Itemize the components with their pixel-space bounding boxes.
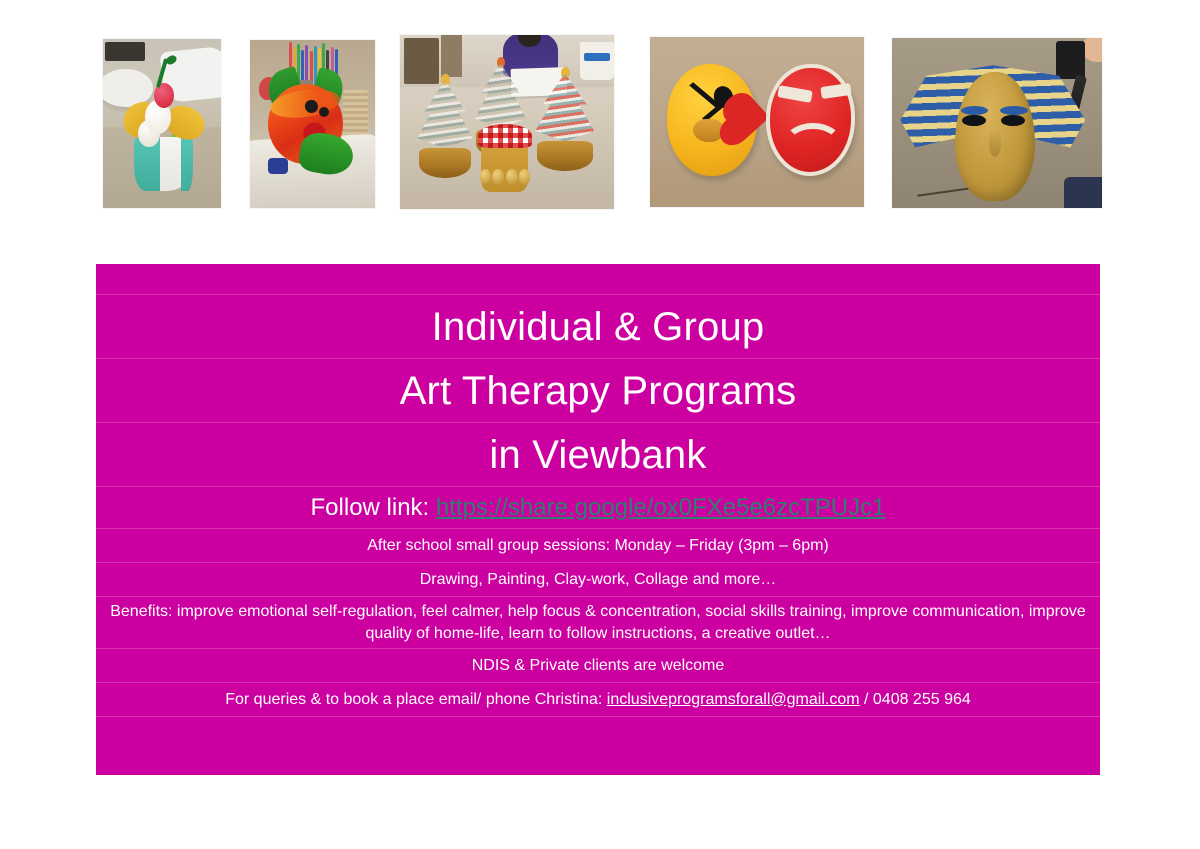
- follow-link-text: Follow link: https://share.google/ox0FXe…: [311, 494, 886, 522]
- tree-fabric-foliage: [415, 80, 475, 154]
- dessert-bowl-teal-band: [181, 137, 193, 191]
- flyer-link-row: Follow link: https://share.google/ox0FXe…: [96, 487, 1100, 529]
- fish-eye: [319, 107, 329, 117]
- flyer-title-row-1: Individual & Group: [96, 295, 1100, 359]
- flyer-contact-row: For queries & to book a place email/ pho…: [96, 683, 1100, 717]
- photo-clay-emoji-faces: [650, 37, 864, 207]
- clients-text: NDIS & Private clients are welcome: [472, 655, 725, 677]
- background-doorway: [441, 35, 462, 77]
- background-sleeve: [1064, 177, 1102, 208]
- photo-papier-mache-fish: [250, 40, 375, 208]
- photo-egyptian-pharaoh-mask: [892, 38, 1102, 208]
- tree-fabric-foliage: [533, 73, 597, 147]
- flyer-panel: Individual & Group Art Therapy Programs …: [96, 264, 1100, 775]
- background-phone: [1056, 41, 1085, 78]
- flyer-title-line-2: Art Therapy Programs: [400, 369, 797, 413]
- flyer-title-row-2: Art Therapy Programs: [96, 359, 1100, 423]
- background-object: [105, 42, 145, 61]
- flyer-benefits-row: Benefits: improve emotional self-regulat…: [96, 597, 1100, 649]
- fabric-christmas-tree: [415, 80, 475, 177]
- flyer-title-row-3: in Viewbank: [96, 423, 1100, 487]
- mask-nose: [989, 129, 1002, 157]
- fabric-christmas-tree: [533, 73, 597, 170]
- mask-eyebrow: [1000, 106, 1027, 115]
- contact-text: For queries & to book a place email/ pho…: [225, 689, 971, 711]
- photo-clay-banana-split: [103, 39, 221, 208]
- mask-eye: [962, 115, 986, 127]
- contact-email-link[interactable]: inclusiveprogramsforall@gmail.com: [607, 691, 860, 708]
- photo-gallery-strip: [0, 0, 1200, 240]
- mask-eyebrow: [961, 106, 988, 115]
- flyer-top-spacer-row: [96, 264, 1100, 295]
- mask-eye: [1001, 115, 1025, 127]
- photo-fabric-christmas-trees: [400, 35, 614, 209]
- background-doorway: [404, 38, 438, 83]
- tree-gold-pot: [419, 148, 472, 177]
- contact-prefix: For queries & to book a place email/ pho…: [225, 691, 607, 708]
- background-object: [268, 158, 288, 175]
- jar-checked-lid: [478, 124, 533, 148]
- decorated-jar: [481, 132, 528, 191]
- contact-separator: /: [860, 691, 873, 708]
- mask-gold-face: [955, 72, 1035, 201]
- activities-text: Drawing, Painting, Clay-work, Collage an…: [420, 569, 777, 591]
- flyer-title-line-3: in Viewbank: [489, 433, 706, 477]
- benefits-text: Benefits: improve emotional self-regulat…: [102, 601, 1094, 644]
- flyer-bottom-spacer-row: [96, 717, 1100, 765]
- share-google-link[interactable]: https://share.google/ox0FXe5e6zcTPUJc1: [436, 494, 886, 521]
- emoji-lips: [693, 119, 723, 143]
- sessions-text: After school small group sessions: Monda…: [367, 535, 829, 557]
- tree-gold-pot: [537, 141, 593, 170]
- flyer-clients-row: NDIS & Private clients are welcome: [96, 649, 1100, 683]
- flyer-title-line-1: Individual & Group: [432, 305, 765, 349]
- flyer-sessions-row: After school small group sessions: Monda…: [96, 529, 1100, 563]
- emoji-frown-mouth: [783, 123, 843, 167]
- follow-link-prefix: Follow link:: [311, 494, 436, 521]
- jar-bells: [479, 169, 532, 184]
- contact-phone: 0408 255 964: [873, 691, 971, 708]
- flyer-activities-row: Drawing, Painting, Clay-work, Collage an…: [96, 563, 1100, 597]
